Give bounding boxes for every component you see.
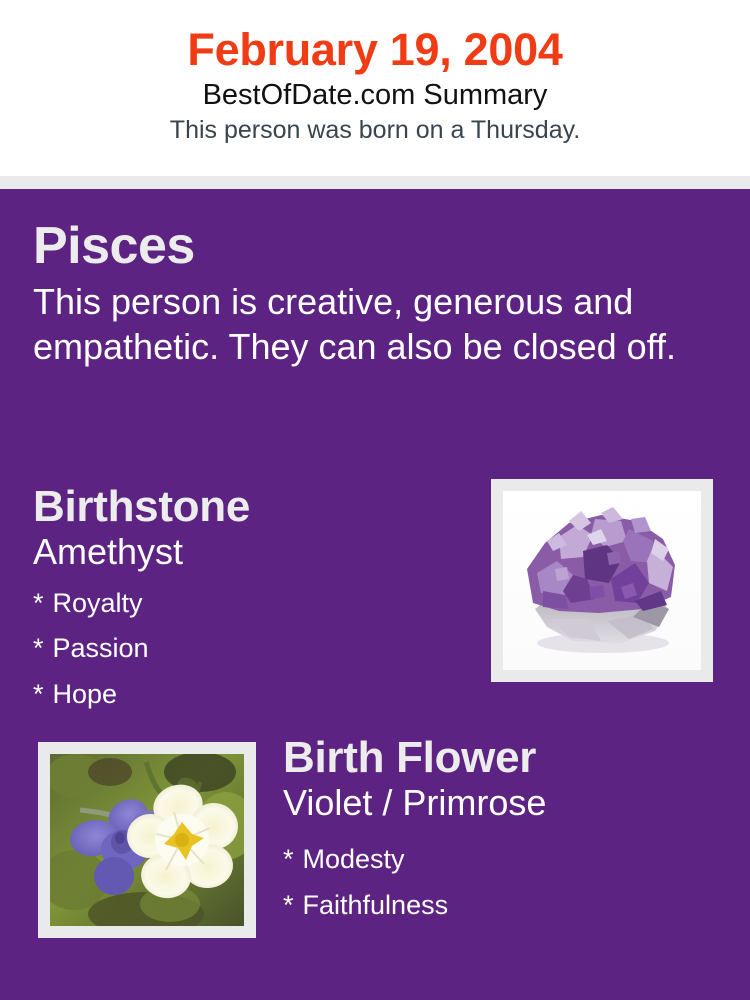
page-title-date: February 19, 2004 — [0, 26, 750, 75]
bullet-star-icon: * — [33, 679, 44, 709]
birthstone-trait-list: *Royalty *Passion *Hope — [33, 581, 473, 717]
date-summary-card: February 19, 2004 BestOfDate.com Summary… — [0, 0, 750, 1000]
list-item: *Faithfulness — [283, 882, 723, 928]
site-summary-label: BestOfDate.com Summary — [0, 80, 750, 112]
list-item: *Passion — [33, 626, 473, 671]
header-divider — [0, 176, 750, 189]
list-item: *Modesty — [283, 836, 723, 882]
violet-and-primrose-flowers-icon — [50, 754, 244, 926]
birth-flower-photo — [50, 754, 244, 926]
details-panel: Pisces This person is creative, generous… — [0, 189, 750, 1000]
born-weekday-note: This person was born on a Thursday. — [0, 117, 750, 145]
birthstone-trait-label: Royalty — [53, 588, 143, 618]
birth-flower-photo-frame — [38, 742, 256, 938]
zodiac-sign-title: Pisces — [33, 218, 713, 274]
zodiac-description: This person is creative, generous and em… — [33, 280, 701, 369]
birthstone-trait-label: Passion — [53, 633, 149, 663]
birth-flower-name: Violet / Primrose — [283, 783, 723, 823]
amethyst-crystal-cluster-icon — [503, 491, 701, 670]
bullet-star-icon: * — [283, 844, 294, 874]
bullet-star-icon: * — [33, 633, 44, 663]
birthstone-trait-label: Hope — [53, 679, 118, 709]
birthstone-name: Amethyst — [33, 532, 473, 572]
birthstone-photo — [503, 491, 701, 670]
birth-flower-trait-list: *Modesty *Faithfulness — [283, 836, 723, 929]
list-item: *Royalty — [33, 581, 473, 626]
birth-flower-heading: Birth Flower — [283, 735, 723, 782]
bullet-star-icon: * — [33, 588, 44, 618]
zodiac-section: Pisces This person is creative, generous… — [33, 218, 713, 369]
birth-flower-section: Birth Flower Violet / Primrose *Modesty … — [283, 735, 723, 929]
birthstone-photo-frame — [491, 479, 713, 682]
birth-flower-trait-label: Modesty — [303, 844, 405, 874]
birthstone-section: Birthstone Amethyst *Royalty *Passion *H… — [33, 484, 473, 717]
header-panel: February 19, 2004 BestOfDate.com Summary… — [0, 0, 750, 176]
birthstone-heading: Birthstone — [33, 484, 473, 531]
bullet-star-icon: * — [283, 890, 294, 920]
list-item: *Hope — [33, 672, 473, 717]
birth-flower-trait-label: Faithfulness — [303, 890, 449, 920]
